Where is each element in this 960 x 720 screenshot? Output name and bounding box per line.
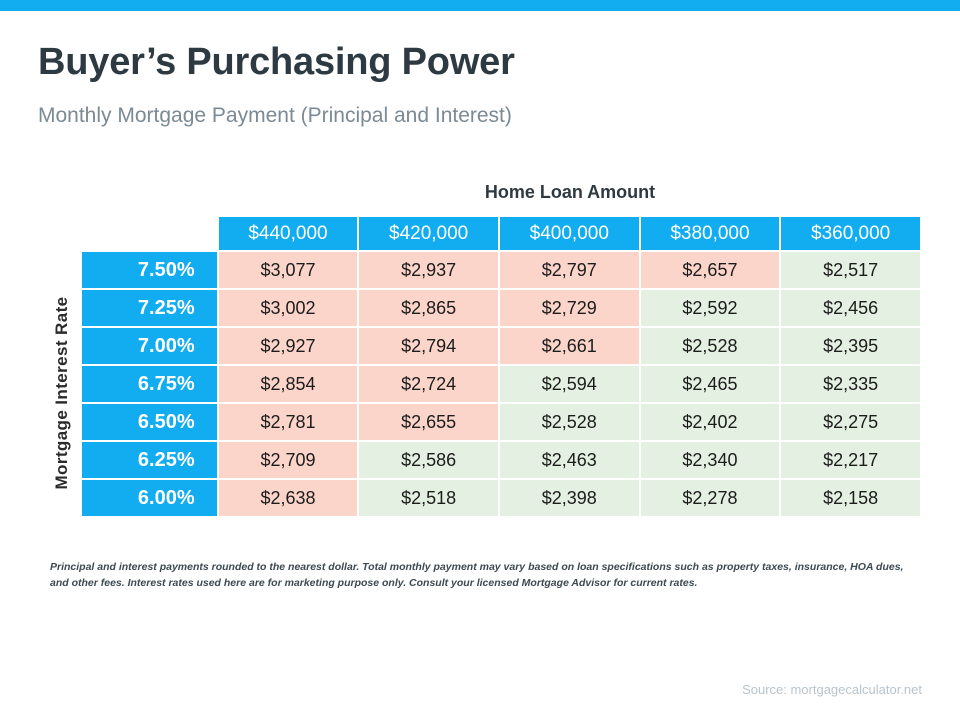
payment-cell: $2,518 bbox=[359, 480, 498, 516]
payment-cell: $2,398 bbox=[500, 480, 639, 516]
column-header-amount: $360,000 bbox=[781, 217, 920, 250]
table-body: 7.50%$3,077$2,937$2,797$2,657$2,5177.25%… bbox=[82, 252, 920, 516]
payment-cell: $2,528 bbox=[641, 328, 780, 364]
payment-cell: $2,275 bbox=[781, 404, 920, 440]
row-header-rate: 7.25% bbox=[82, 290, 217, 326]
source-attribution: Source: mortgagecalculator.net bbox=[742, 682, 922, 697]
table-row: 6.25%$2,709$2,586$2,463$2,340$2,217 bbox=[82, 442, 920, 478]
payment-cell: $2,456 bbox=[781, 290, 920, 326]
column-header-amount: $440,000 bbox=[219, 217, 358, 250]
column-header-amount: $420,000 bbox=[359, 217, 498, 250]
column-group-label: Home Loan Amount bbox=[218, 182, 922, 203]
payment-cell: $2,937 bbox=[359, 252, 498, 288]
payment-cell: $2,709 bbox=[219, 442, 358, 478]
payment-cell: $2,657 bbox=[641, 252, 780, 288]
column-header-amount: $400,000 bbox=[500, 217, 639, 250]
table-row: 6.50%$2,781$2,655$2,528$2,402$2,275 bbox=[82, 404, 920, 440]
row-header-rate: 6.00% bbox=[82, 480, 217, 516]
purchasing-power-table: $440,000$420,000$400,000$380,000$360,000… bbox=[80, 215, 922, 518]
payment-cell: $2,335 bbox=[781, 366, 920, 402]
payment-cell: $2,465 bbox=[641, 366, 780, 402]
payment-cell: $2,217 bbox=[781, 442, 920, 478]
table-corner-cell bbox=[82, 217, 217, 250]
footnote-text: Principal and interest payments rounded … bbox=[50, 560, 910, 592]
payment-cell: $3,002 bbox=[219, 290, 358, 326]
table-row: 7.00%$2,927$2,794$2,661$2,528$2,395 bbox=[82, 328, 920, 364]
row-group-label: Mortgage Interest Rate bbox=[52, 248, 72, 538]
payment-cell: $2,463 bbox=[500, 442, 639, 478]
row-header-rate: 7.50% bbox=[82, 252, 217, 288]
table-row: 7.25%$3,002$2,865$2,729$2,592$2,456 bbox=[82, 290, 920, 326]
payment-cell: $3,077 bbox=[219, 252, 358, 288]
payment-cell: $2,797 bbox=[500, 252, 639, 288]
row-header-rate: 6.75% bbox=[82, 366, 217, 402]
page-title: Buyer’s Purchasing Power bbox=[38, 42, 515, 83]
payment-cell: $2,340 bbox=[641, 442, 780, 478]
top-accent-bar bbox=[0, 0, 960, 11]
payment-cell: $2,724 bbox=[359, 366, 498, 402]
payment-cell: $2,594 bbox=[500, 366, 639, 402]
row-header-rate: 7.00% bbox=[82, 328, 217, 364]
payment-cell: $2,794 bbox=[359, 328, 498, 364]
table-row: 7.50%$3,077$2,937$2,797$2,657$2,517 bbox=[82, 252, 920, 288]
table-header: $440,000$420,000$400,000$380,000$360,000 bbox=[82, 217, 920, 250]
payment-cell: $2,592 bbox=[641, 290, 780, 326]
payment-cell: $2,638 bbox=[219, 480, 358, 516]
table-row: 6.75%$2,854$2,724$2,594$2,465$2,335 bbox=[82, 366, 920, 402]
row-header-rate: 6.50% bbox=[82, 404, 217, 440]
payment-cell: $2,278 bbox=[641, 480, 780, 516]
payment-cell: $2,586 bbox=[359, 442, 498, 478]
column-header-amount: $380,000 bbox=[641, 217, 780, 250]
payment-cell: $2,781 bbox=[219, 404, 358, 440]
payment-cell: $2,927 bbox=[219, 328, 358, 364]
payment-cell: $2,395 bbox=[781, 328, 920, 364]
payment-cell: $2,528 bbox=[500, 404, 639, 440]
table-row: 6.00%$2,638$2,518$2,398$2,278$2,158 bbox=[82, 480, 920, 516]
payment-cell: $2,402 bbox=[641, 404, 780, 440]
table-header-row: $440,000$420,000$400,000$380,000$360,000 bbox=[82, 217, 920, 250]
page-subtitle: Monthly Mortgage Payment (Principal and … bbox=[38, 104, 512, 128]
payment-cell: $2,865 bbox=[359, 290, 498, 326]
payment-cell: $2,729 bbox=[500, 290, 639, 326]
payment-cell: $2,655 bbox=[359, 404, 498, 440]
payment-cell: $2,661 bbox=[500, 328, 639, 364]
slide-canvas: Buyer’s Purchasing Power Monthly Mortgag… bbox=[0, 0, 960, 720]
payment-cell: $2,517 bbox=[781, 252, 920, 288]
payment-cell: $2,854 bbox=[219, 366, 358, 402]
row-header-rate: 6.25% bbox=[82, 442, 217, 478]
payment-cell: $2,158 bbox=[781, 480, 920, 516]
